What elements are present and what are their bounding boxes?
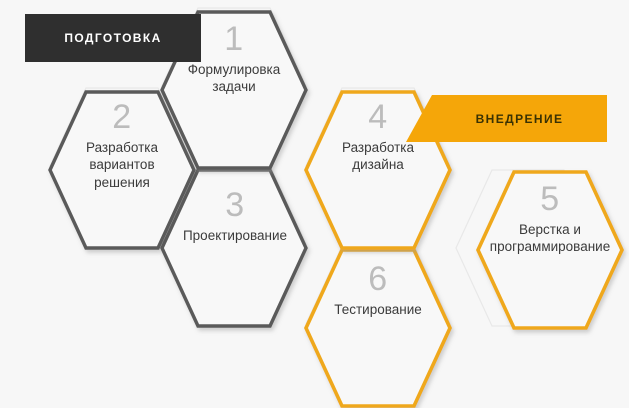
banner-implementation-label: ВНЕДРЕНИЕ [476, 112, 564, 126]
hexagon-step-6[interactable] [306, 250, 450, 406]
banner-implementation: ВНЕДРЕНИЕ [432, 95, 607, 142]
honeycomb-diagram: ПОДГОТОВКА ВНЕДРЕНИЕ 1 Формулировка зада… [0, 0, 629, 408]
banner-preparation-tail [168, 14, 214, 70]
banner-preparation-label: ПОДГОТОВКА [64, 31, 161, 45]
hexagon-step-5[interactable] [478, 172, 622, 328]
